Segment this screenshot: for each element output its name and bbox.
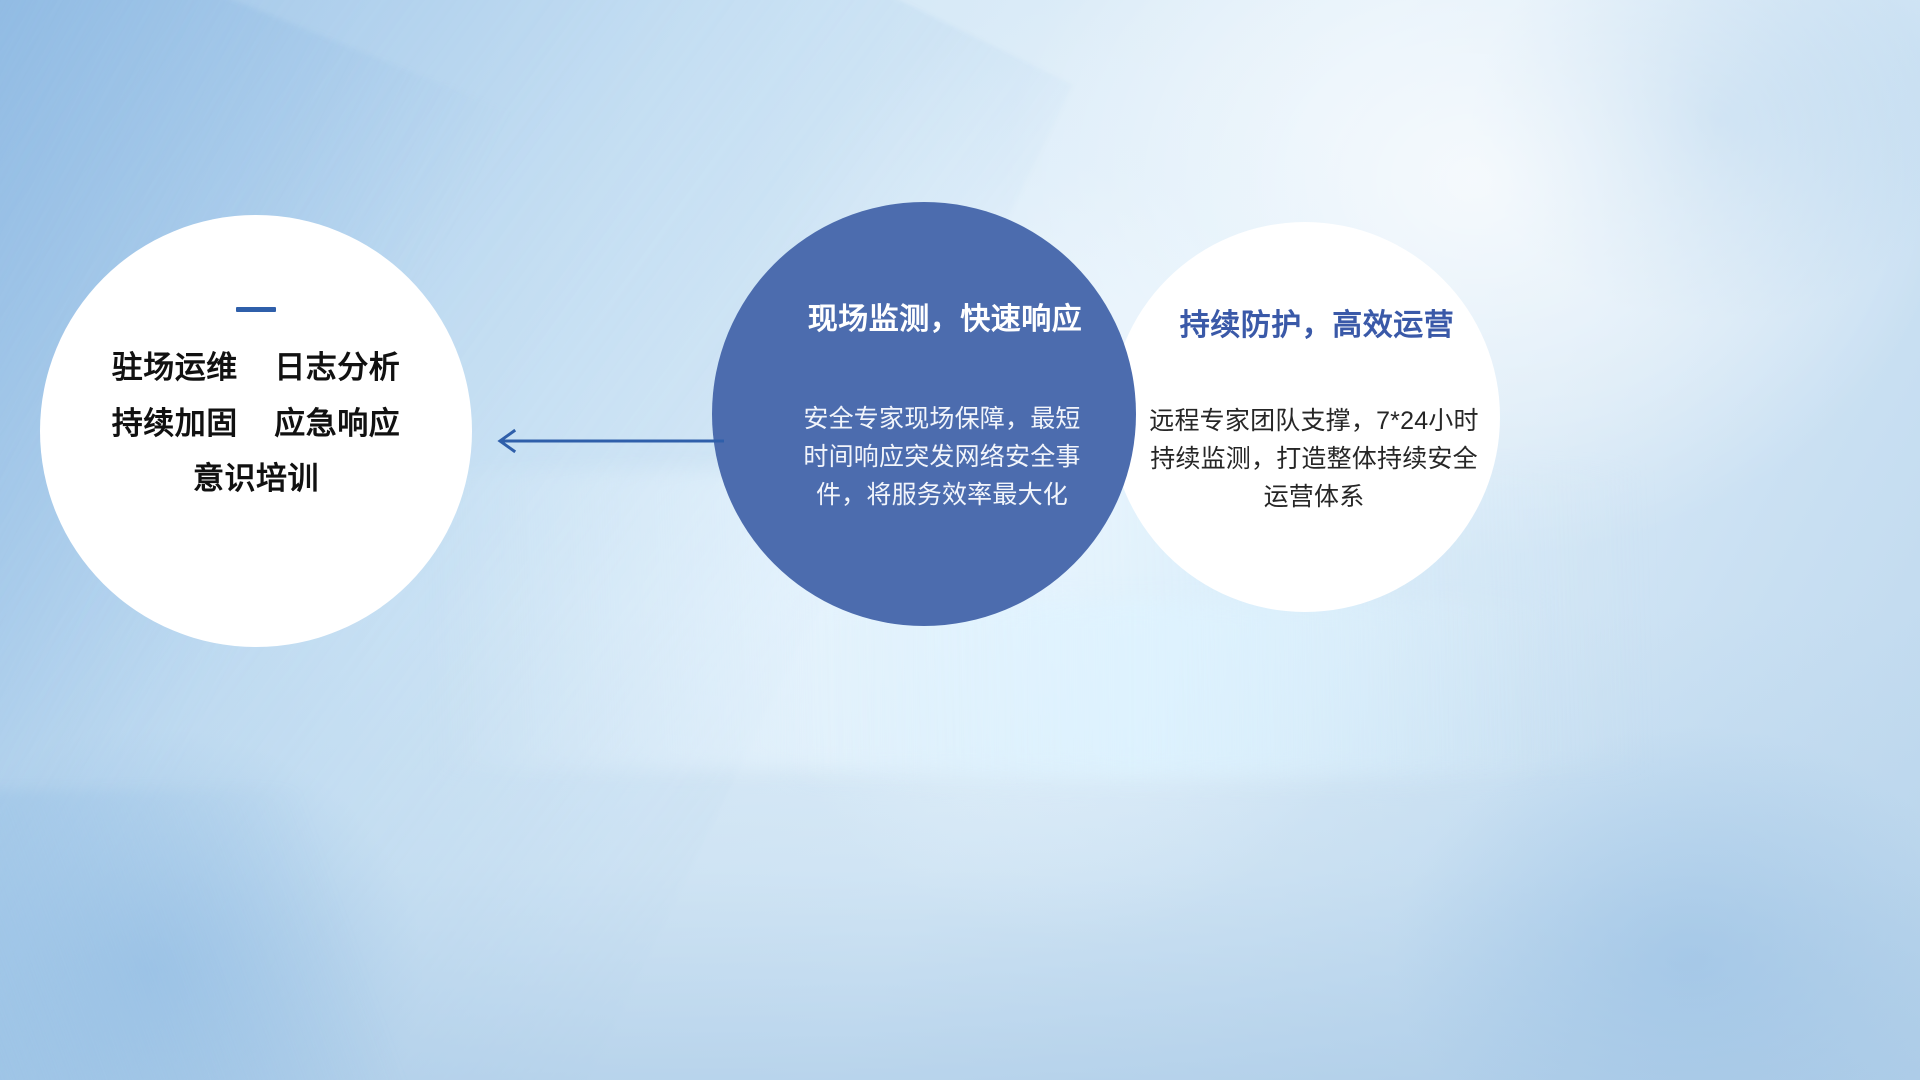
service-circle-right: 持续防护，高效运营 远程专家团队支撑，7*24小时持续监测，打造整体持续安全运营… [1110,222,1500,612]
capability-row-1: 驻场运维 日志分析 [112,352,400,385]
service-circle-middle: 现场监测，快速响应 安全专家现场保障，最短时间响应突发网络安全事件，将服务效率最… [712,202,1136,626]
capability-list: 驻场运维 日志分析 持续加固 应急响应 意识培训 [112,352,400,496]
capability-row-3: 意识培训 [193,463,319,496]
background-streak-bottom-left [0,790,460,1080]
background-sheen-middle-highlight [780,600,1560,780]
middle-circle-body: 安全专家现场保障，最短时间响应突发网络安全事件，将服务效率最大化 [792,400,1092,514]
right-circle-body: 远程专家团队支撑，7*24小时持续监测，打造整体持续安全运营体系 [1138,402,1490,516]
capability-circle-left: 驻场运维 日志分析 持续加固 应急响应 意识培训 [40,215,472,647]
slide-canvas: 驻场运维 日志分析 持续加固 应急响应 意识培训 持续防护，高效运营 远程专家团… [0,0,1920,1080]
middle-circle-heading: 现场监测，快速响应 [808,294,1083,338]
right-circle-heading: 持续防护，高效运营 [1180,300,1455,344]
arrow-left-icon [488,425,724,457]
divider-dash [236,307,276,312]
capability-row-2: 持续加固 应急响应 [112,408,400,441]
